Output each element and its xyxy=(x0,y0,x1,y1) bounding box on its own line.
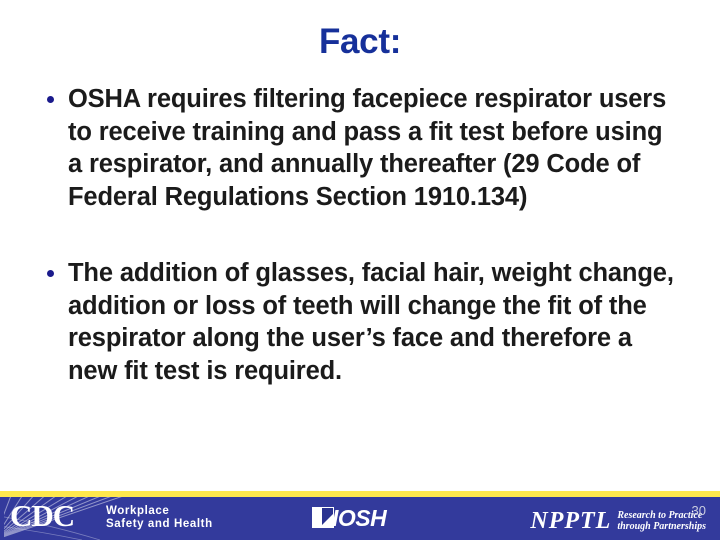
npptl-logo: NPPTL Research to Practice through Partn… xyxy=(530,506,706,536)
npptl-tagline-line-2: through Partnerships xyxy=(617,521,706,532)
npptl-wordmark: NPPTL xyxy=(530,508,611,534)
list-item: OSHA requires filtering facepiece respir… xyxy=(42,83,682,213)
cdc-tagline: Workplace Safety and Health xyxy=(106,505,213,531)
list-item-text: OSHA requires filtering facepiece respir… xyxy=(68,85,666,211)
list-item-text: The addition of glasses, facial hair, we… xyxy=(68,259,674,385)
cdc-tagline-line-1: Workplace xyxy=(106,505,213,518)
footer-bar: CDC Workplace Safety and Health IOSH NPP xyxy=(0,497,720,540)
niosh-wordmark: IOSH xyxy=(332,505,386,531)
presentation-slide: Fact: OSHA requires filtering facepiece … xyxy=(0,0,720,540)
cdc-tagline-line-2: Safety and Health xyxy=(106,518,213,531)
cdc-logo: CDC Workplace Safety and Health xyxy=(4,497,234,540)
bullet-dot-icon xyxy=(47,96,54,103)
npptl-tagline-line-1: Research to Practice xyxy=(617,510,702,521)
list-item: The addition of glasses, facial hair, we… xyxy=(42,257,682,387)
slide-body: OSHA requires filtering facepiece respir… xyxy=(42,83,682,387)
slide-number: 30 xyxy=(692,504,706,518)
niosh-logo: IOSH xyxy=(310,504,450,534)
bullet-dot-icon xyxy=(47,270,54,277)
slide-footer: CDC Workplace Safety and Health IOSH NPP xyxy=(0,491,720,540)
cdc-wordmark: CDC xyxy=(10,499,74,533)
page-title: Fact: xyxy=(0,22,720,62)
